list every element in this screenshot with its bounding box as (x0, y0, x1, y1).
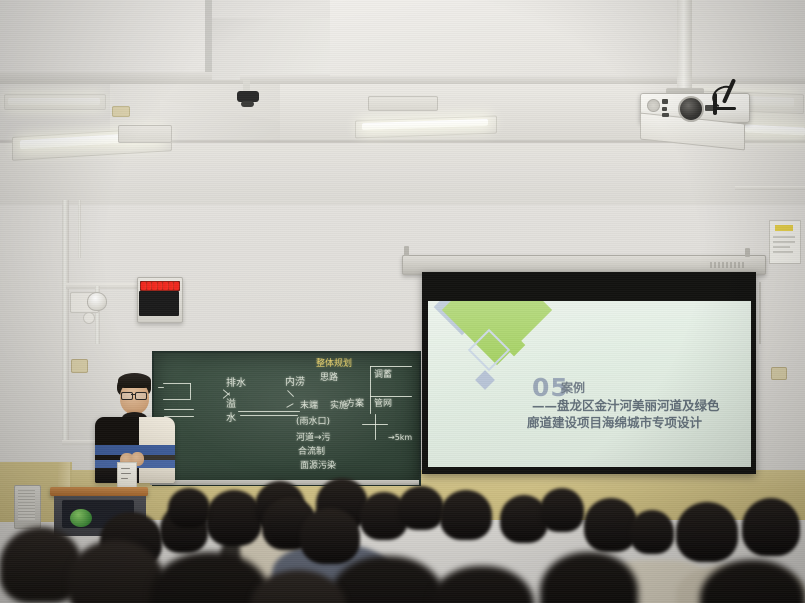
presenter-glasses-bridge (131, 394, 135, 395)
ceiling-beam-upper-left (0, 0, 212, 78)
ceiling-beam-shadow-a (205, 0, 212, 80)
slide-subtitle-line-1: ——盘龙区金汁河美丽河道及绿色 (532, 399, 720, 413)
screen-cord-right (759, 282, 761, 344)
dome-security-camera (87, 292, 107, 311)
slide-section-keyword: 案例 (561, 382, 585, 394)
projector-port-a (662, 99, 668, 104)
ceiling-beam-vertical (212, 18, 330, 80)
chalk-note: 内涝 (285, 378, 305, 388)
audience-head (676, 502, 738, 562)
ceiling-rail-right (735, 186, 805, 190)
wall-outlet-right[interactable] (771, 367, 787, 380)
projector-port-b (662, 107, 667, 111)
projector-port-c (662, 113, 669, 117)
notice-text-line (773, 246, 790, 248)
chalk-note: 末端 (300, 402, 318, 411)
audience-head-front (540, 552, 638, 603)
audience-head (300, 508, 360, 564)
chalk-note: 河道→污 (296, 434, 331, 443)
projector-lens (678, 96, 704, 122)
projector-vent (647, 99, 660, 112)
light-fixture-1 (4, 94, 106, 110)
chalk-note-highlight: 整体规划 (316, 360, 352, 369)
notice-text-line (773, 241, 795, 243)
chalk-note: 水 (226, 414, 236, 424)
chalk-note: 管网 (374, 400, 392, 409)
audience-head (630, 510, 674, 554)
presenter-hair-top (118, 373, 151, 388)
light-fixture-3 (118, 125, 172, 143)
audience-head-front (430, 566, 534, 603)
sweater-panel-lower-light (139, 468, 175, 483)
projected-slide: 05 案例 ——盘龙区金汁河美丽河道及绿色 廊道建设项目海绵城市专项设计 (428, 301, 751, 467)
chalk-note: 溢 (226, 400, 236, 410)
led-sign-body (139, 291, 179, 316)
slide-shape-bluegray-diamond-small (475, 370, 495, 390)
screen-hook-right (745, 248, 750, 257)
chalk-note: 排水 (226, 379, 246, 389)
ceiling-panel-right (330, 0, 805, 76)
notice-text-line (773, 236, 795, 238)
chalk-note: 思路 (320, 374, 338, 383)
chalk-note: 调蓄 (374, 371, 392, 380)
ceiling-sensor-base (241, 101, 254, 107)
chalk-box (370, 366, 371, 414)
chalk-note: 方案 (346, 400, 364, 409)
led-digit-strip (140, 281, 180, 291)
chalk-line-long (238, 411, 300, 412)
wall-speaker-grill (18, 490, 35, 520)
led-digit (169, 282, 174, 290)
screen-hook-left (404, 246, 409, 256)
lectern-top (50, 487, 148, 496)
led-digit (158, 282, 163, 290)
chalk-note: →5km (388, 434, 412, 442)
chalk-note: (雨水口) (296, 418, 330, 427)
green-object-on-lectern (70, 509, 92, 527)
chalk-mark (158, 387, 164, 388)
lecture-hall-photo: 排水 溢 水 内涝 整体规划 思路 末端 (雨水口) 河道→污 合流制 实施 方… (0, 0, 805, 603)
audience-head (398, 486, 444, 530)
chalk-box (370, 366, 412, 367)
light-fixture-5 (368, 96, 438, 111)
conduit-vertical-thin (78, 200, 81, 258)
slide-subtitle-line-2: 廊道建设项目海绵城市专项设计 (527, 416, 702, 430)
led-digit (147, 282, 152, 290)
audience-head (742, 498, 800, 556)
conduit-vertical-main (62, 200, 69, 445)
led-digit (174, 282, 179, 290)
notice-text-line (773, 251, 793, 253)
ceiling-beam-drop-left (0, 72, 248, 84)
chalk-mark (164, 409, 194, 410)
audience-head (540, 488, 584, 532)
camera-stub (83, 312, 95, 324)
led-digit (163, 282, 168, 290)
projector-mount-pole (677, 0, 692, 92)
presenter-notes (117, 462, 137, 489)
chalk-note: 面源污染 (300, 462, 336, 471)
chalk-box (370, 396, 412, 397)
chalk-note: 合流制 (298, 448, 325, 457)
chalk-mark (375, 414, 376, 440)
presenter-glasses-right (135, 392, 147, 400)
led-digit (141, 282, 146, 290)
ceiling-fitting-small (112, 106, 130, 117)
audience-head (206, 490, 262, 546)
screen-brand-logo (710, 262, 746, 268)
notice-header-band (775, 225, 793, 231)
chalk-line-long (240, 415, 298, 416)
chalk-mark (362, 424, 388, 425)
audience-head (168, 488, 210, 528)
wall-outlet-left[interactable] (71, 359, 88, 373)
audience-head (440, 490, 492, 540)
led-digit (152, 282, 157, 290)
projector-cable-tail (716, 107, 736, 110)
